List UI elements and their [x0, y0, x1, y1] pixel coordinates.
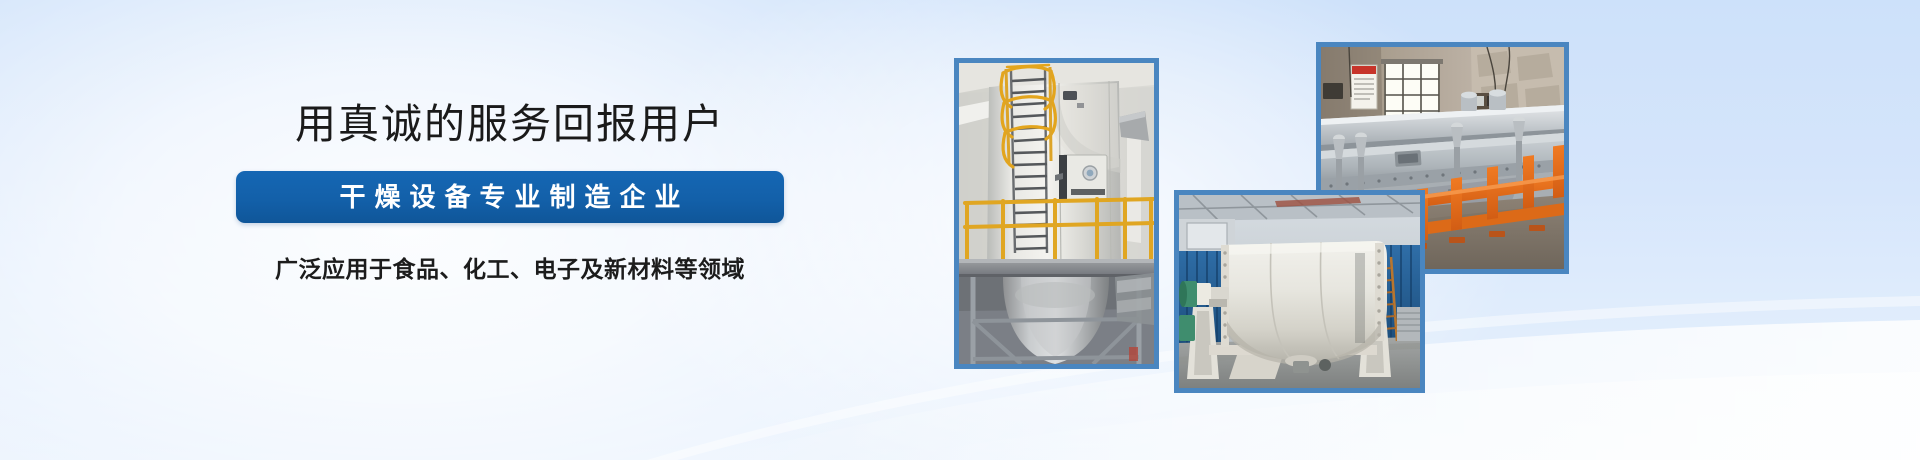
hero-banner: 用真诚的服务回报用户 干燥设备专业制造企业 广泛应用于食品、化工、电子及新材料等…	[0, 0, 1920, 460]
photo-ribbon-mixer[interactable]	[1174, 190, 1425, 393]
photo-ribbon-mixer-image	[1179, 195, 1420, 388]
banner-subline: 广泛应用于食品、化工、电子及新材料等领域	[0, 250, 1020, 284]
banner-badge: 干燥设备专业制造企业	[236, 171, 784, 223]
photo-spray-dryer[interactable]	[954, 58, 1159, 369]
photo-spray-dryer-image	[959, 63, 1154, 364]
banner-headline: 用真诚的服务回报用户	[0, 104, 1020, 145]
banner-copy: 用真诚的服务回报用户 干燥设备专业制造企业 广泛应用于食品、化工、电子及新材料等…	[0, 104, 1020, 284]
